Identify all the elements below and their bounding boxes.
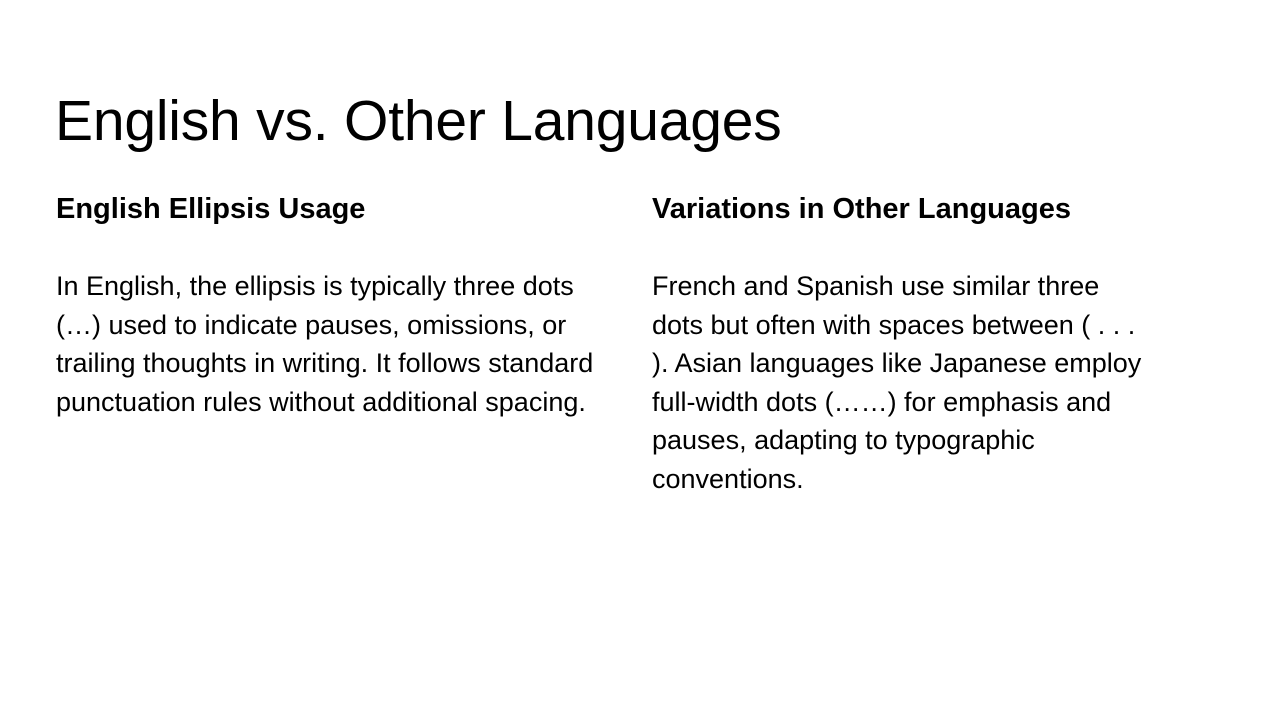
column-left-heading: English Ellipsis Usage [56,188,596,231]
column-right-heading: Variations in Other Languages [652,188,1152,231]
page-title: English vs. Other Languages [55,90,1225,154]
slide-canvas: English vs. Other Languages English Elli… [0,0,1280,720]
column-right-body: French and Spanish use similar three dot… [652,267,1152,499]
column-left-body: In English, the ellipsis is typically th… [56,267,596,421]
